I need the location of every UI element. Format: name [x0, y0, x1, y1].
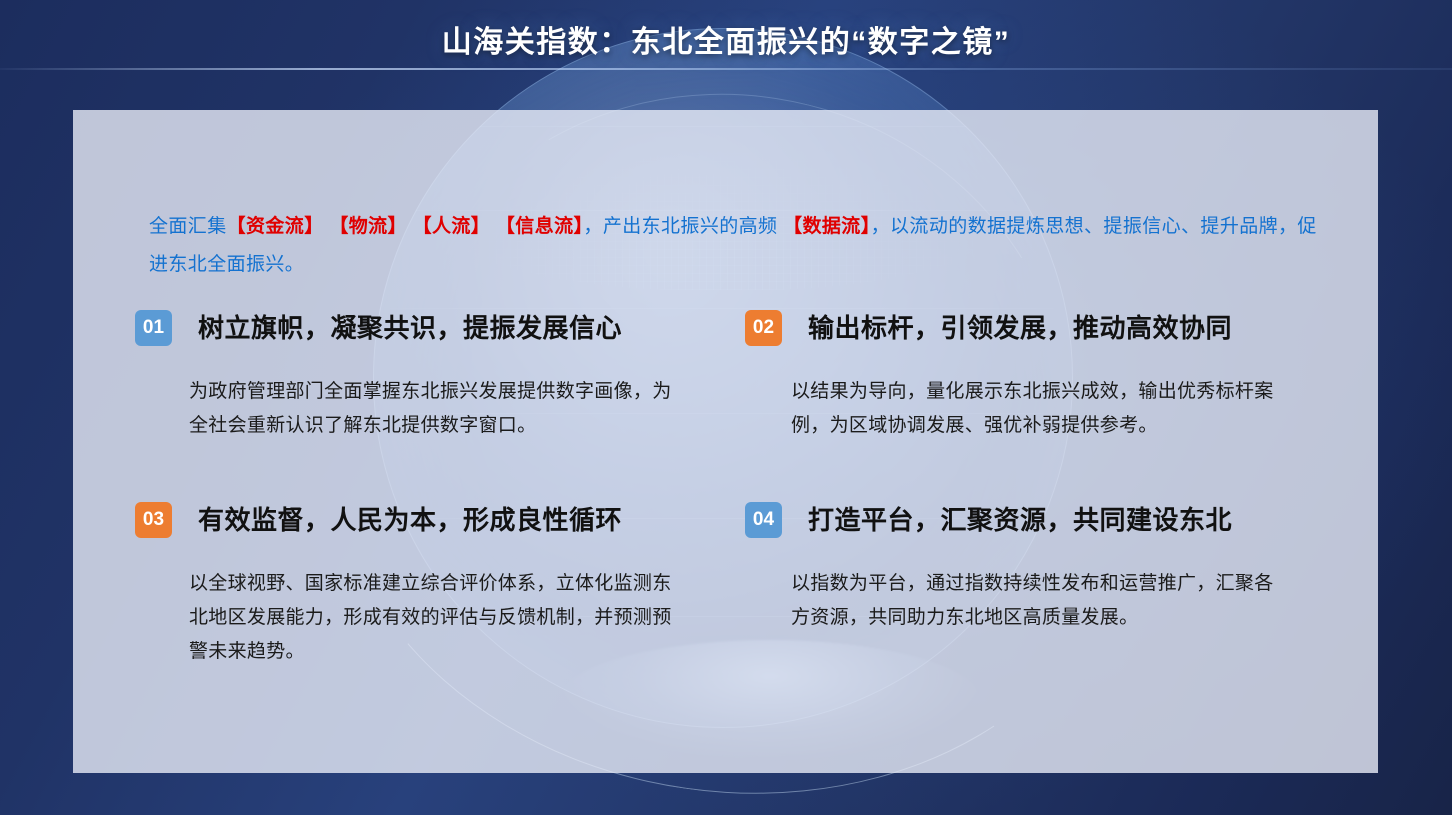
- intro-highlight-term: 【数据流】: [783, 216, 871, 237]
- feature-title-04: 打造平台，汇聚资源，共同建设东北: [808, 500, 1232, 537]
- feature-badge-03: 03: [135, 502, 172, 538]
- feature-title-01: 树立旗帜，凝聚共识，提振发展信心: [198, 308, 622, 345]
- feature-title-02: 输出标杆，引领发展，推动高效协同: [808, 308, 1232, 345]
- feature-badge-04: 04: [745, 502, 782, 538]
- slide-header: 山海关指数：东北全面振兴的“数字之镜”: [0, 0, 1452, 70]
- content-panel-inner: 全面汇集【资金流】 【物流】 【人流】 【信息流】，产出东北振兴的高频 【数据流…: [73, 110, 1378, 773]
- feature-badge-02: 02: [745, 310, 782, 346]
- page-title: 山海关指数：东北全面振兴的“数字之镜”: [0, 17, 1452, 61]
- feature-badge-01: 01: [135, 310, 172, 346]
- feature-body-03: 以全球视野、国家标准建立综合评价体系，立体化监测东北地区发展能力，形成有效的评估…: [189, 567, 689, 669]
- intro-highlight-term: 【物流】: [329, 216, 407, 237]
- header-divider: [0, 68, 1452, 70]
- feature-item-01: 01 树立旗帜，凝聚共识，提振发展信心 为政府管理部门全面掌握东北振兴发展提供数…: [135, 308, 680, 352]
- intro-highlight-term: 【人流】: [413, 216, 491, 237]
- intro-text-run: 全面汇集: [149, 216, 227, 237]
- feature-item-04-header: 04 打造平台，汇聚资源，共同建设东北: [745, 500, 1290, 544]
- feature-item-02: 02 输出标杆，引领发展，推动高效协同 以结果为导向，量化展示东北振兴成效，输出…: [745, 308, 1290, 352]
- feature-item-01-header: 01 树立旗帜，凝聚共识，提振发展信心: [135, 308, 680, 352]
- intro-paragraph: 全面汇集【资金流】 【物流】 【人流】 【信息流】，产出东北振兴的高频 【数据流…: [149, 208, 1319, 284]
- feature-body-01: 为政府管理部门全面掌握东北振兴发展提供数字画像，为全社会重新认识了解东北提供数字…: [189, 375, 689, 443]
- feature-body-04: 以指数为平台，通过指数持续性发布和运营推广，汇聚各方资源，共同助力东北地区高质量…: [791, 567, 1291, 635]
- intro-highlight-term: 【资金流】: [227, 216, 324, 237]
- feature-title-03: 有效监督，人民为本，形成良性循环: [198, 500, 622, 537]
- feature-item-03-header: 03 有效监督，人民为本，形成良性循环: [135, 500, 680, 544]
- slide-root: 山海关指数：东北全面振兴的“数字之镜” 全面汇集【资金流】 【物流】 【人流】 …: [0, 0, 1452, 815]
- content-panel: 全面汇集【资金流】 【物流】 【人流】 【信息流】，产出东北振兴的高频 【数据流…: [73, 110, 1378, 773]
- intro-text-run: ，产出东北振兴的高频: [583, 216, 783, 237]
- feature-item-02-header: 02 输出标杆，引领发展，推动高效协同: [745, 308, 1290, 352]
- intro-highlight-term: 【信息流】: [496, 216, 584, 237]
- feature-item-03: 03 有效监督，人民为本，形成良性循环 以全球视野、国家标准建立综合评价体系，立…: [135, 500, 680, 544]
- feature-body-02: 以结果为导向，量化展示东北振兴成效，输出优秀标杆案例，为区域协调发展、强优补弱提…: [791, 375, 1291, 443]
- feature-item-04: 04 打造平台，汇聚资源，共同建设东北 以指数为平台，通过指数持续性发布和运营推…: [745, 500, 1290, 544]
